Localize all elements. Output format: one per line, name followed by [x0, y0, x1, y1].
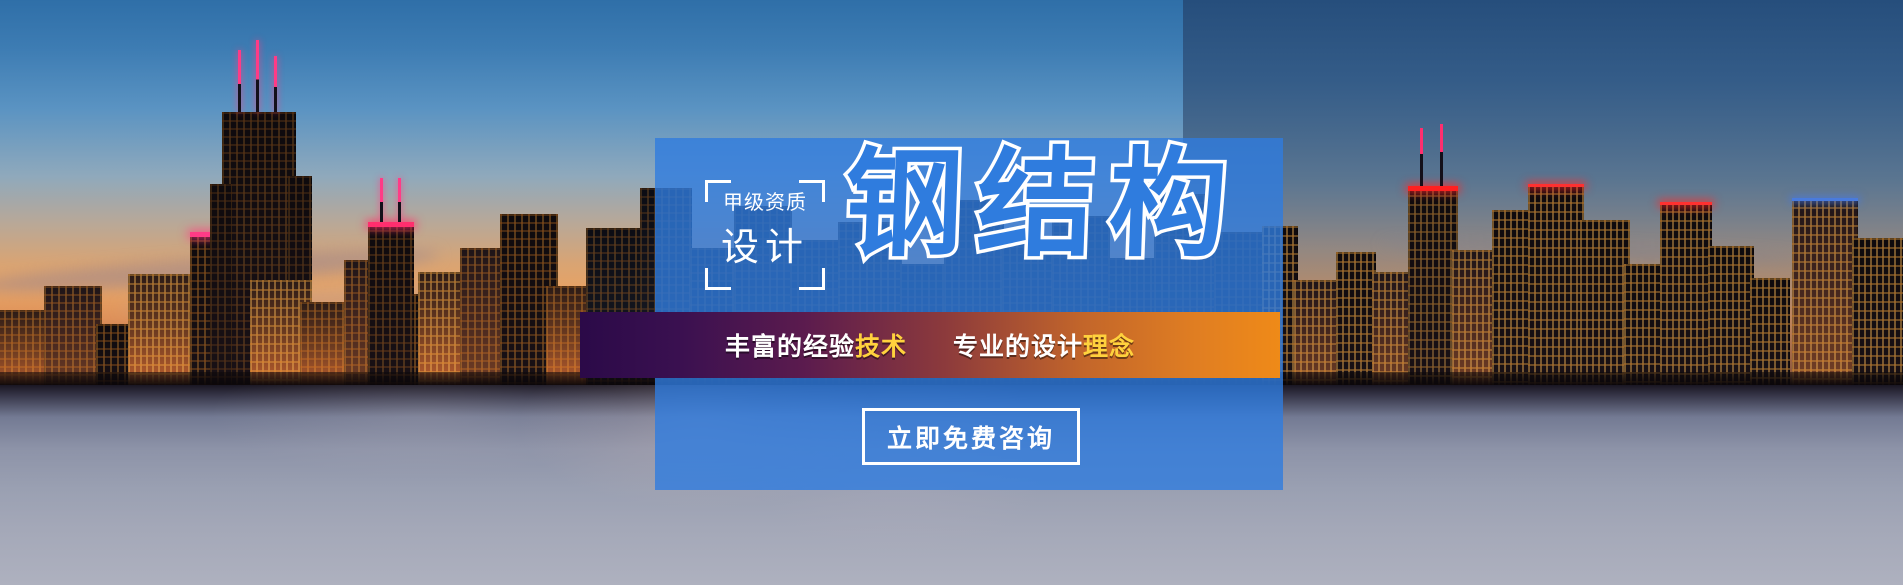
hero-banner: 甲级资质 设计 钢结构 丰富的经验技术 专业的设计理念 立即免费咨询	[0, 0, 1903, 585]
tagline-1-highlight: 技术	[855, 332, 907, 361]
badge-eyebrow: 甲级资质	[705, 186, 825, 215]
bracket-bottom-left-icon	[705, 268, 731, 290]
badge-main-text: 设计	[705, 228, 825, 266]
tagline-2-highlight: 理念	[1083, 332, 1135, 361]
page-title: 钢结构	[843, 135, 1244, 274]
bracket-bottom-right-icon	[799, 268, 825, 290]
tagline-2-plain: 专业的设计	[953, 332, 1083, 361]
tagline-1-plain: 丰富的经验	[725, 332, 855, 361]
tagline-item-2: 专业的设计理念	[953, 327, 1135, 363]
qualification-badge: 甲级资质 设计	[705, 180, 825, 290]
tagline-item-1: 丰富的经验技术	[725, 327, 907, 363]
free-consultation-button[interactable]: 立即免费咨询	[862, 408, 1080, 465]
tagline-bar: 丰富的经验技术 专业的设计理念	[580, 312, 1280, 378]
